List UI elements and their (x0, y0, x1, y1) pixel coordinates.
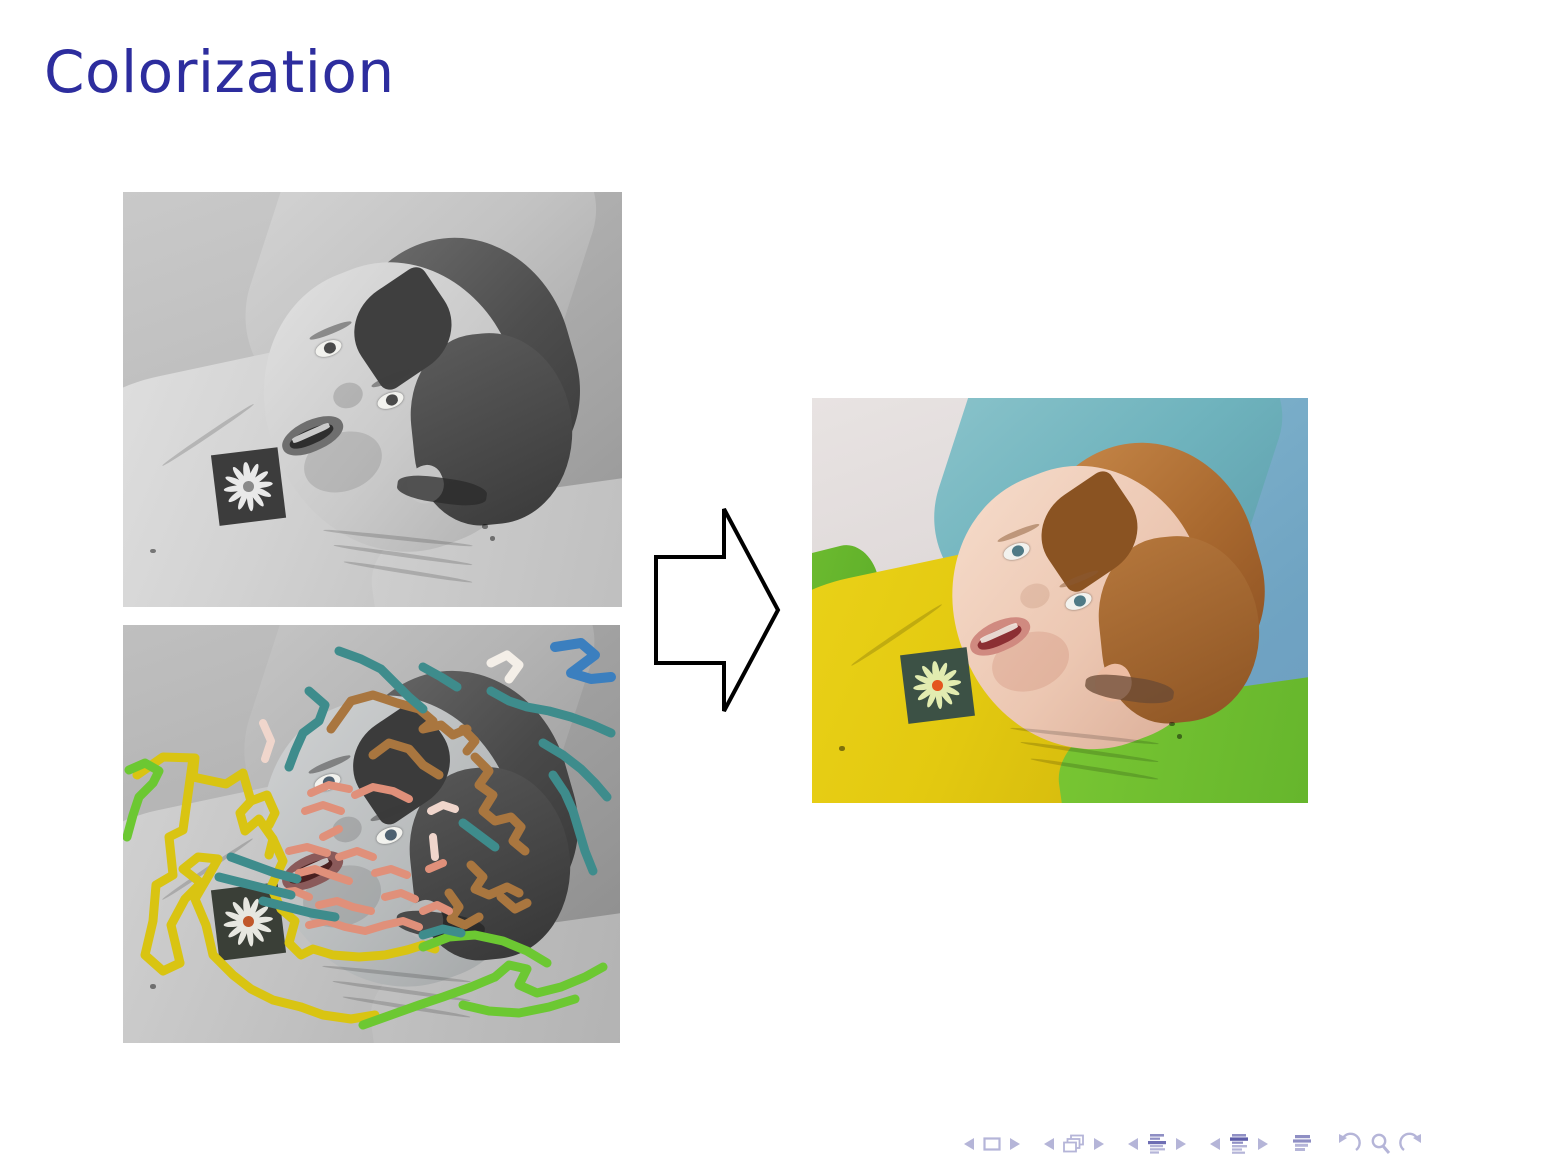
iris-left (1010, 544, 1025, 558)
sleeve-dot (1177, 734, 1182, 738)
beamer-navigation-bar[interactable] (963, 1127, 1533, 1161)
sleeve-dot (482, 524, 487, 529)
iris-right (385, 393, 400, 407)
shirt-dot (839, 746, 844, 750)
triangle-left-icon[interactable] (963, 1136, 975, 1152)
triangle-left-icon[interactable] (1127, 1136, 1139, 1152)
figure-color-scribbles (123, 625, 620, 1043)
magnifier-icon[interactable] (1368, 1132, 1392, 1156)
slide-square-icon[interactable] (982, 1134, 1002, 1154)
flower-patch (211, 448, 286, 526)
scribble-blue (555, 643, 611, 679)
document-lines-icon[interactable] (1291, 1132, 1313, 1156)
figure-grayscale-input (123, 192, 622, 607)
flower-petals (219, 457, 279, 517)
scribble-overlay (123, 625, 620, 1043)
nav-group-history[interactable] (1335, 1132, 1425, 1156)
photo-grayscale (123, 192, 622, 607)
triangle-left-icon[interactable] (1209, 1136, 1221, 1152)
triangle-right-icon[interactable] (1257, 1136, 1269, 1152)
redo-arrow-icon[interactable] (1399, 1132, 1425, 1156)
scribble-yellow (137, 757, 435, 1019)
nav-group-presentation[interactable] (1291, 1132, 1313, 1156)
figure-colorized-result (812, 398, 1308, 803)
transform-arrow (652, 505, 782, 715)
nav-group-slide[interactable] (963, 1134, 1021, 1154)
nav-group-frame[interactable] (1043, 1133, 1105, 1155)
triangle-right-icon[interactable] (1009, 1136, 1021, 1152)
section-lines-icon[interactable] (1228, 1132, 1250, 1156)
subsection-lines-icon[interactable] (1146, 1132, 1168, 1156)
arrow-shape (656, 509, 778, 711)
stacked-frames-icon[interactable] (1062, 1133, 1086, 1155)
triangle-left-icon[interactable] (1043, 1136, 1055, 1152)
nav-group-subsection[interactable] (1127, 1132, 1187, 1156)
flower-patch (900, 647, 975, 723)
flower-petals (907, 656, 967, 714)
nav-group-section[interactable] (1209, 1132, 1269, 1156)
undo-arrow-icon[interactable] (1335, 1132, 1361, 1156)
triangle-right-icon[interactable] (1175, 1136, 1187, 1152)
scribble-teal (219, 651, 611, 935)
iris-right (1072, 594, 1087, 608)
scribble-white (491, 655, 519, 679)
page-title: Colorization (44, 38, 395, 106)
iris-left (322, 341, 337, 355)
photo-colorized (812, 398, 1308, 803)
triangle-right-icon[interactable] (1093, 1136, 1105, 1152)
